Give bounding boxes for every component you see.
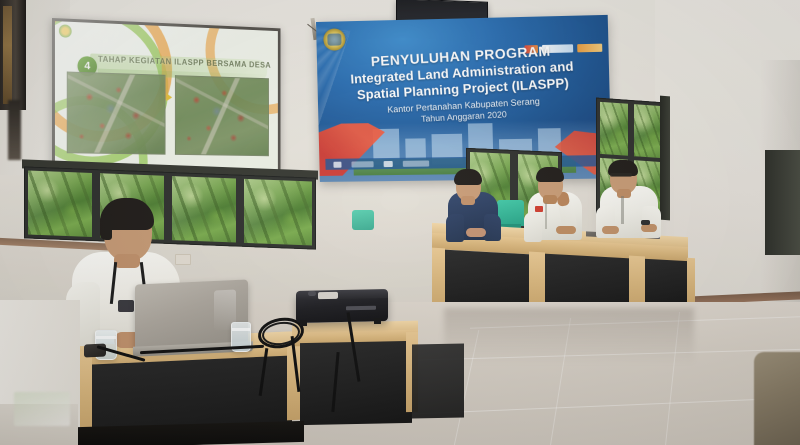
window-pane [172, 176, 236, 242]
aerial-map-after [175, 75, 269, 156]
panelist-center-hand-table [556, 226, 576, 234]
operator-neck [114, 254, 140, 268]
dark-device[interactable] [84, 343, 106, 357]
panelist-center-placket [545, 203, 547, 229]
window-pane [244, 179, 312, 246]
panelist-right-neck [617, 189, 631, 198]
panelist-center-badge [535, 206, 543, 212]
green-plastic-chair[interactable] [352, 210, 374, 230]
slide-logo-icon [59, 24, 72, 38]
panelist-left-hands [466, 228, 486, 237]
operator-sideburn [100, 214, 112, 240]
projector-foot [300, 320, 307, 326]
projector-ports [346, 306, 376, 311]
khaki-cloth [754, 352, 800, 445]
footer-logo-icon [333, 161, 341, 167]
window-pane [28, 171, 92, 237]
green-plastic-chair[interactable] [497, 200, 524, 226]
event-banner: PENYULUHAN PROGRAM Integrated Land Admin… [316, 15, 612, 182]
window-pillar [660, 96, 670, 221]
window-glare [634, 104, 662, 158]
window-glare [244, 179, 312, 246]
water-line [232, 328, 250, 331]
door-gap [8, 100, 21, 160]
window-bank-left [24, 166, 316, 249]
water-line [96, 336, 116, 339]
wristwatch-icon [641, 220, 650, 225]
slide-image-row [67, 71, 269, 156]
window-pane [600, 102, 628, 156]
panelist-left-arm [484, 214, 501, 241]
glasses-icon [610, 173, 632, 177]
projector-foot [374, 318, 381, 324]
slide-arrow-icon [166, 93, 172, 101]
window-dark-right-edge [765, 150, 800, 255]
footer-logo-icon [351, 161, 373, 167]
panelist-center-hair [536, 167, 564, 182]
window-glare [600, 102, 628, 156]
footer-logo-icon [403, 160, 429, 166]
projection-screen: 4 TAHAP KEGIATAN ILASPP BERSAMA DESA [52, 18, 281, 173]
projector-lens-icon [308, 291, 316, 296]
window-glare [172, 176, 236, 242]
lanyard-badge [118, 300, 134, 312]
panelist-right-hand [602, 226, 619, 234]
footer-logo-icon [384, 160, 393, 166]
window-glare [28, 171, 92, 237]
wall-switch[interactable] [175, 254, 191, 265]
panelist-center-arm-left [524, 212, 542, 242]
window-reflection-left [14, 392, 70, 426]
panelist-left-arm [446, 214, 464, 242]
panelist-left-hair [454, 169, 482, 185]
panelist-left-neck [461, 196, 475, 205]
side-table-panel [412, 344, 464, 419]
presentation-slide: 4 TAHAP KEGIATAN ILASPP BERSAMA DESA [55, 21, 278, 170]
door-frame-left [0, 0, 26, 110]
projector-lens-panel [318, 292, 338, 299]
panelist-right-hand [641, 224, 657, 232]
window-pane [634, 104, 662, 158]
aerial-map-before [67, 71, 166, 154]
photo-scene: 4 TAHAP KEGIATAN ILASPP BERSAMA DESA PEN… [0, 0, 800, 445]
floor-reflection-table [444, 308, 694, 364]
panelist-right-placket [621, 196, 624, 224]
